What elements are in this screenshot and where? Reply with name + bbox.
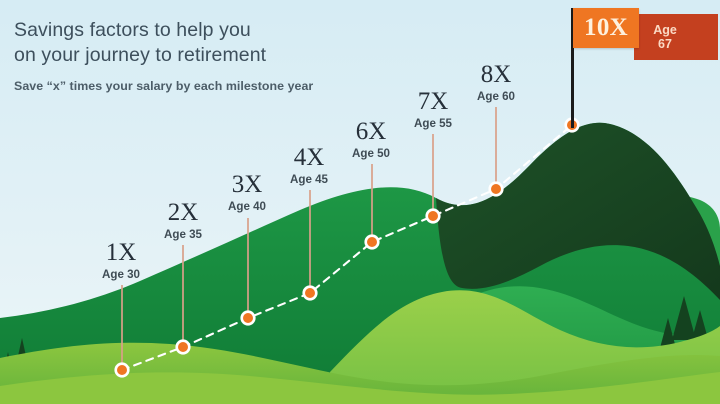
milestone-age-4: Age 45 [277, 172, 341, 187]
milestone-label-5: 6X Age 50 [339, 119, 403, 161]
flag-age-block: Age 67 [638, 14, 692, 60]
milestone-label-3: 3X Age 40 [215, 172, 279, 214]
flag-banner: 10X [573, 8, 639, 48]
milestone-multiple-2: 2X [151, 200, 215, 226]
milestone-label-7: 8X Age 60 [464, 62, 528, 104]
milestone-age-1: Age 30 [89, 267, 153, 282]
milestone-label-2: 2X Age 35 [151, 200, 215, 242]
page-subtitle: Save “x” times your salary by each miles… [14, 79, 414, 93]
flag-age-label: Age [653, 23, 677, 37]
milestone-multiple-6: 7X [401, 89, 465, 115]
flag-age-value: 67 [658, 37, 672, 51]
milestone-multiple-5: 6X [339, 119, 403, 145]
milestone-multiple-7: 8X [464, 62, 528, 88]
page-title-line-1: Savings factors to help you [14, 18, 394, 43]
milestone-label-1: 1X Age 30 [89, 240, 153, 282]
milestone-age-3: Age 40 [215, 199, 279, 214]
milestone-age-6: Age 55 [401, 116, 465, 131]
page-title: Savings factors to help you on your jour… [14, 18, 394, 68]
milestone-multiple-3: 3X [215, 172, 279, 198]
milestone-multiple-4: 4X [277, 145, 341, 171]
milestone-label-6: 7X Age 55 [401, 89, 465, 131]
milestone-age-2: Age 35 [151, 227, 215, 242]
flag-multiple: 10X [584, 14, 628, 42]
milestone-age-7: Age 60 [464, 89, 528, 104]
infographic-canvas: Savings factors to help you on your jour… [0, 0, 720, 404]
milestone-age-5: Age 50 [339, 146, 403, 161]
flag-ribbon: Age 67 [634, 14, 718, 60]
page-title-line-2: on your journey to retirement [14, 43, 394, 68]
milestone-multiple-1: 1X [89, 240, 153, 266]
milestone-label-4: 4X Age 45 [277, 145, 341, 187]
